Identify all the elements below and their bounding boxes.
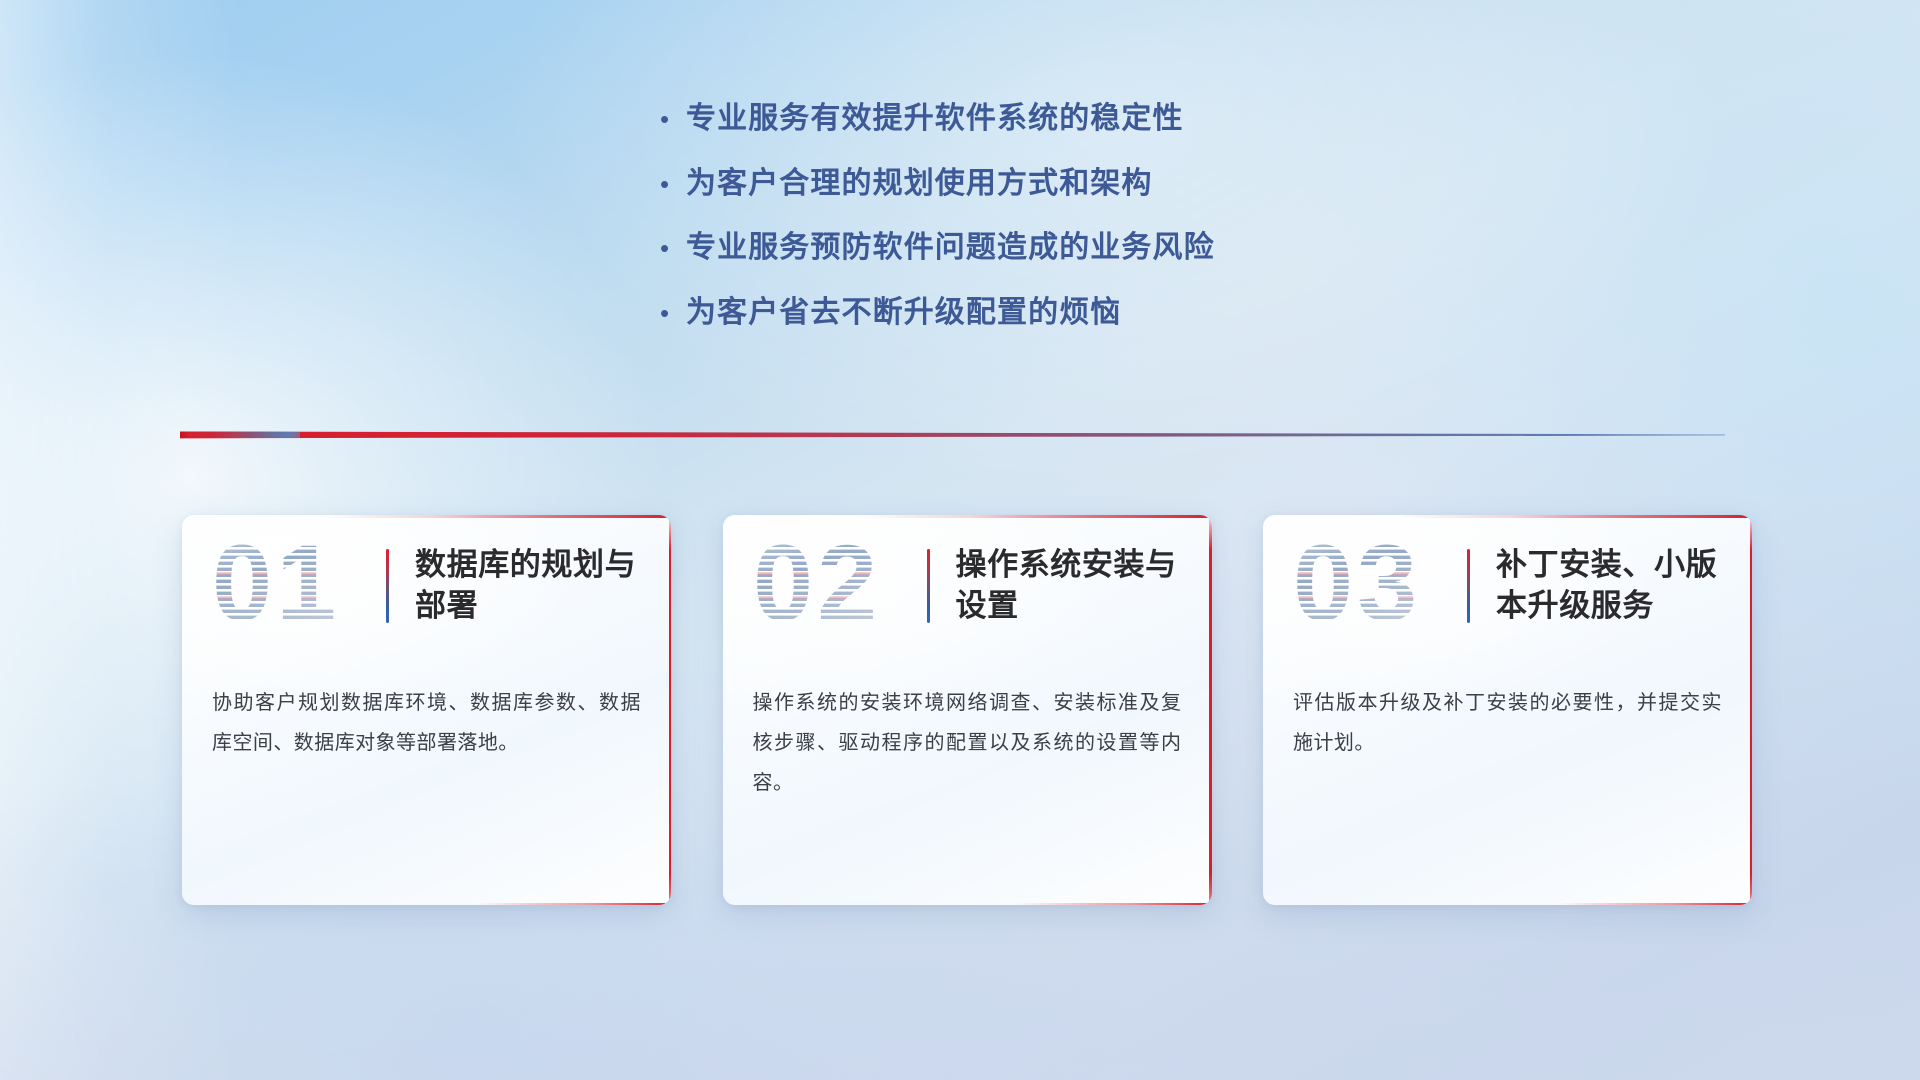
striped-number-icon: 01	[210, 532, 378, 640]
bullet-label: 专业服务有效提升软件系统的稳定性	[686, 100, 1184, 138]
card-description: 评估版本升级及补丁安装的必要性，并提交实施计划。	[1293, 683, 1722, 763]
card-title: 补丁安装、小版本升级服务	[1496, 545, 1752, 627]
card-accent-bottom-edge	[1016, 903, 1212, 906]
card-accent-bottom-edge	[1556, 903, 1752, 906]
service-card[interactable]: 01	[182, 515, 671, 905]
card-accent-bar	[1467, 549, 1470, 623]
card-header: 02	[723, 515, 1212, 657]
bullet-label: 为客户合理的规划使用方式和架构	[686, 165, 1153, 203]
striped-number-icon: 02	[751, 532, 919, 640]
bullet-label: 专业服务预防软件问题造成的业务风险	[686, 229, 1215, 267]
service-card[interactable]: 03	[1263, 515, 1752, 905]
bullet-dot-icon: •	[660, 106, 686, 132]
card-accent-bar	[927, 549, 930, 623]
list-item: • 专业服务有效提升软件系统的稳定性	[660, 100, 1440, 138]
card-accent-bar	[386, 549, 389, 623]
card-accent-bottom-edge	[475, 903, 671, 906]
card-header: 01	[182, 515, 671, 657]
card-number-watermark: 02	[751, 532, 919, 640]
tapered-rule-icon	[180, 424, 1725, 446]
slide-canvas: • 专业服务有效提升软件系统的稳定性 • 为客户合理的规划使用方式和架构 • 专…	[0, 0, 1920, 1080]
card-description: 协助客户规划数据库环境、数据库参数、数据库空间、数据库对象等部署落地。	[212, 683, 641, 763]
card-number-watermark: 03	[1291, 532, 1459, 640]
bullet-dot-icon: •	[660, 235, 686, 261]
service-card[interactable]: 02	[723, 515, 1212, 905]
list-item: • 专业服务预防软件问题造成的业务风险	[660, 229, 1440, 267]
bullet-dot-icon: •	[660, 300, 686, 326]
list-item: • 为客户合理的规划使用方式和架构	[660, 165, 1440, 203]
bullet-dot-icon: •	[660, 171, 686, 197]
service-card-row: 01	[182, 515, 1752, 910]
section-divider	[180, 424, 1725, 446]
card-title: 操作系统安装与设置	[956, 545, 1212, 627]
card-title: 数据库的规划与部署	[415, 545, 671, 627]
card-header: 03	[1263, 515, 1752, 657]
bullet-label: 为客户省去不断升级配置的烦恼	[686, 294, 1121, 332]
card-number-watermark: 01	[210, 532, 378, 640]
striped-number-icon: 03	[1291, 532, 1459, 640]
list-item: • 为客户省去不断升级配置的烦恼	[660, 294, 1440, 332]
card-description: 操作系统的安装环境网络调查、安装标准及复核步骤、驱动程序的配置以及系统的设置等内…	[753, 683, 1182, 803]
benefits-bullet-list: • 专业服务有效提升软件系统的稳定性 • 为客户合理的规划使用方式和架构 • 专…	[660, 100, 1440, 358]
